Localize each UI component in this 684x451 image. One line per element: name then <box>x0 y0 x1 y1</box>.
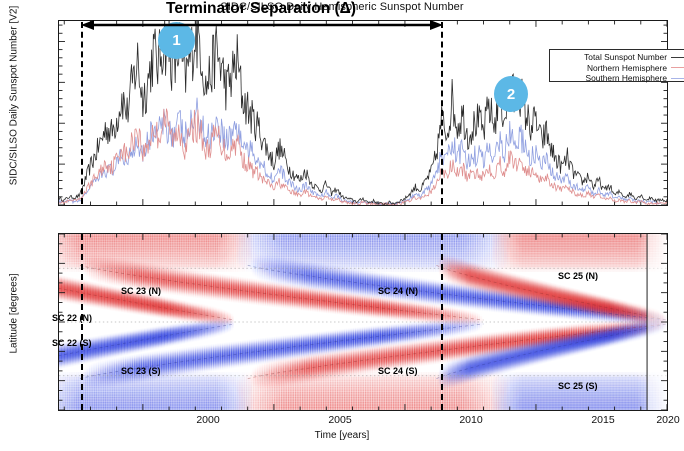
xtick-2000: 2000 <box>188 414 228 426</box>
legend-item-southern: Southern Hemisphere <box>553 73 684 83</box>
legend-swatch-southern <box>671 78 684 79</box>
xaxis-label: Time [years] <box>0 430 684 441</box>
legend-item-northern: Northern Hemisphere <box>553 63 684 73</box>
figure-root: SIDC/SILSO Daily Hemispheric Sunspot Num… <box>0 0 684 451</box>
terminator-annotation <box>58 206 668 232</box>
cycle-label-sc25-n: SC 25 (N) <box>558 271 598 281</box>
terminator-line-2-top <box>441 22 443 204</box>
legend-label-southern: Southern Hemisphere <box>553 73 671 83</box>
callout-marker-2: 2 <box>494 76 528 112</box>
xtick-2015: 2015 <box>583 414 623 426</box>
legend-swatch-total <box>671 57 684 58</box>
legend-item-total: Total Sunspot Number <box>553 52 684 62</box>
terminator-separation-label: Terminator Separation (Δ) <box>80 0 442 18</box>
cycle-label-sc22-s: SC 22 (S) <box>52 338 92 348</box>
terminator-separation-arrow <box>81 19 443 31</box>
terminator-line-2-bottom <box>441 234 443 410</box>
cycle-label-sc22-n: SC 22 (N) <box>52 313 92 323</box>
legend-label-total: Total Sunspot Number <box>553 52 671 62</box>
cycle-label-sc24-n: SC 24 (N) <box>378 286 418 296</box>
cycle-label-sc23-n: SC 23 (N) <box>121 286 161 296</box>
cycle-label-sc23-s: SC 23 (S) <box>121 366 161 376</box>
terminator-line-1-top <box>81 22 83 204</box>
sunspot-timeseries-panel: Total Sunspot Number Northern Hemisphere… <box>58 20 668 206</box>
series-line-northern-hemisphere <box>59 109 667 205</box>
legend-label-northern: Northern Hemisphere <box>553 63 671 73</box>
top-panel-ylabel: SIDC/SILSO Daily Sunspot Number [V2] <box>9 0 20 261</box>
cycle-label-sc24-s: SC 24 (S) <box>378 366 418 376</box>
series-line-southern-hemisphere <box>59 98 661 205</box>
xtick-2020: 2020 <box>648 414 684 426</box>
legend: Total Sunspot Number Northern Hemisphere… <box>549 49 684 82</box>
legend-swatch-northern <box>671 67 684 68</box>
xtick-2010: 2010 <box>451 414 491 426</box>
cycle-label-sc25-s: SC 25 (S) <box>558 381 598 391</box>
xtick-2005: 2005 <box>320 414 360 426</box>
bottom-panel-ylabel: Latitude [degrees] <box>9 224 20 404</box>
